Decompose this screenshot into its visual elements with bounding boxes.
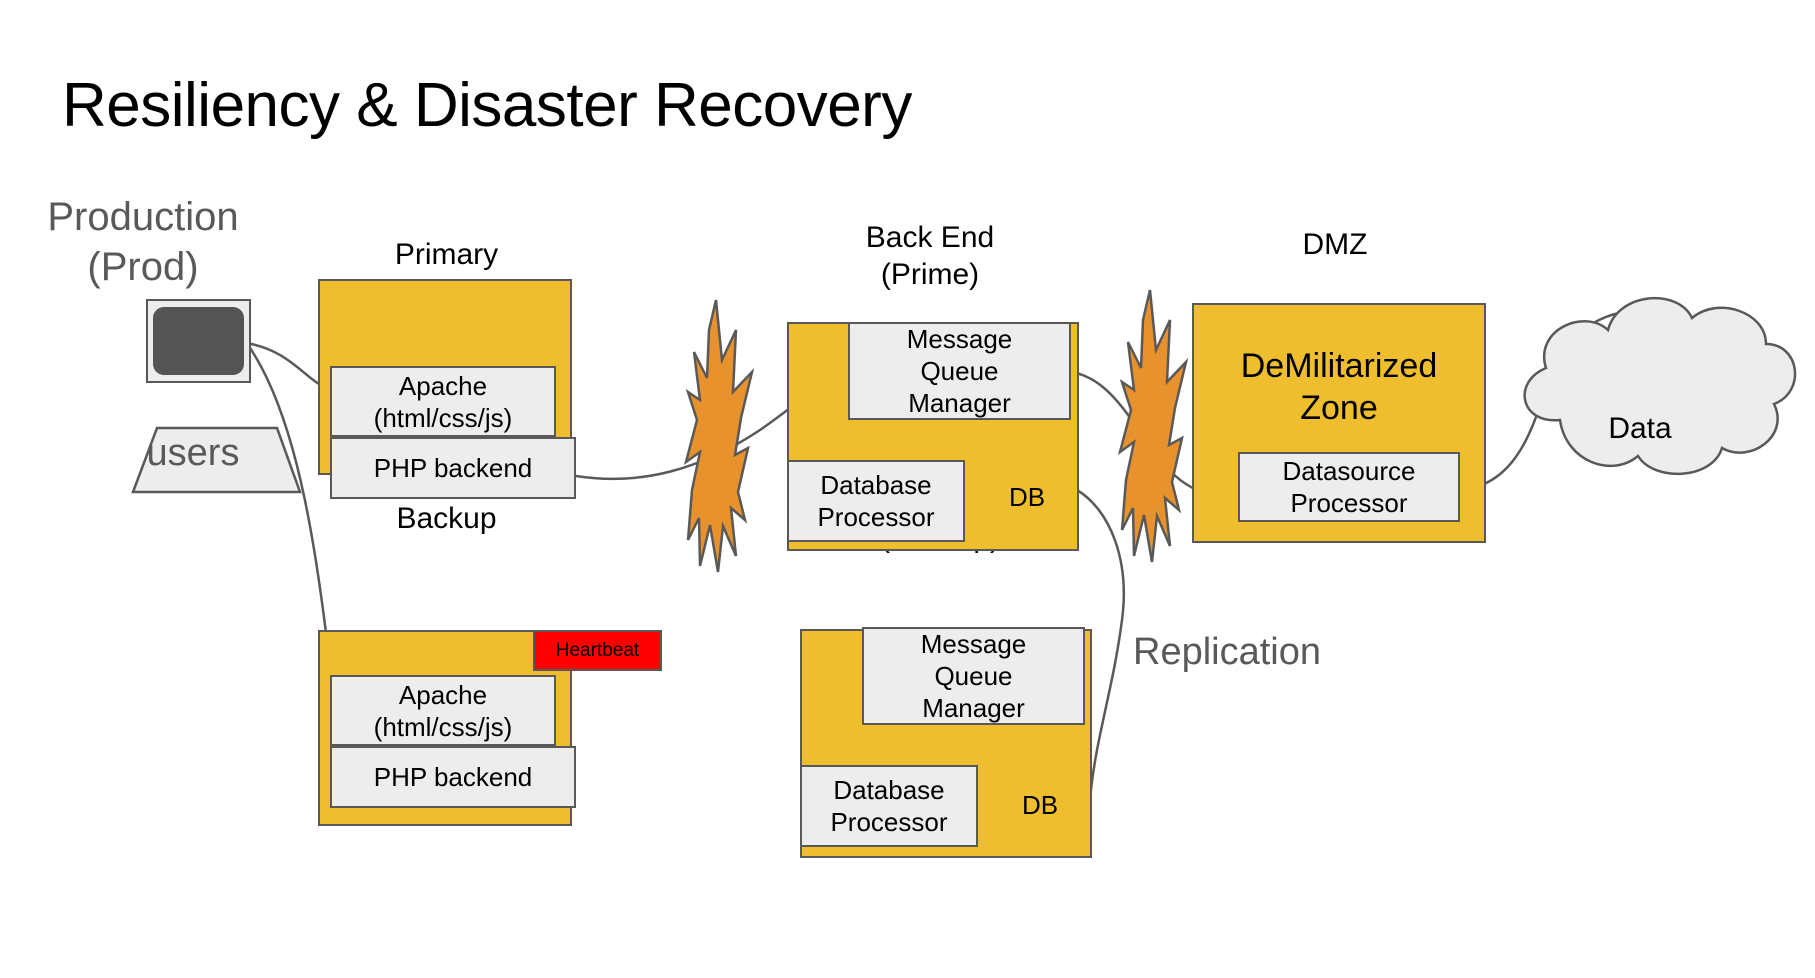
backend-prime-database-processor-box[interactable]: Database Processor [787,460,965,542]
backend-backup-database-processor-box[interactable]: Database Processor [800,765,978,847]
page-title: Resiliency & Disaster Recovery [62,70,912,141]
dmz-caption: DMZ [1190,226,1480,263]
primary-caption: Primary [320,236,573,273]
production-label: Production (Prod) [28,192,258,292]
replication-label: Replication [1133,631,1321,674]
backend-prime-message-queue-manager-box[interactable]: Message Queue Manager [848,322,1071,420]
backend-prime-db-label: DB [977,455,1077,540]
backup-apache-box[interactable]: Apache (html/css/js) [330,675,556,746]
data-cloud-label: Data [1530,412,1750,446]
firewall-primary-to-backend-icon [686,300,752,572]
dmz-datasource-processor-box[interactable]: Datasource Processor [1238,452,1460,522]
diagram-canvas: Resiliency & Disaster Recovery Productio… [0,0,1815,978]
data-cloud-icon [1525,298,1795,474]
backup-caption: Backup [320,500,573,537]
edge-dmz-to-cloud [1460,310,1652,490]
primary-apache-box[interactable]: Apache (html/css/js) [330,366,556,437]
dmz-zone-text: DeMilitarized Zone [1192,345,1486,429]
firewall-backend-to-dmz-icon [1120,290,1186,562]
backup-php-box[interactable]: PHP backend [330,746,576,808]
primary-php-box[interactable]: PHP backend [330,437,576,499]
heartbeat-badge[interactable]: Heartbeat [533,630,662,671]
backend-backup-message-queue-manager-box[interactable]: Message Queue Manager [862,627,1085,725]
backend-prime-caption: Back End (Prime) [780,219,1080,293]
monitor-screen-icon [153,307,244,375]
backend-backup-db-label: DB [990,763,1090,848]
users-label: users [118,432,268,475]
